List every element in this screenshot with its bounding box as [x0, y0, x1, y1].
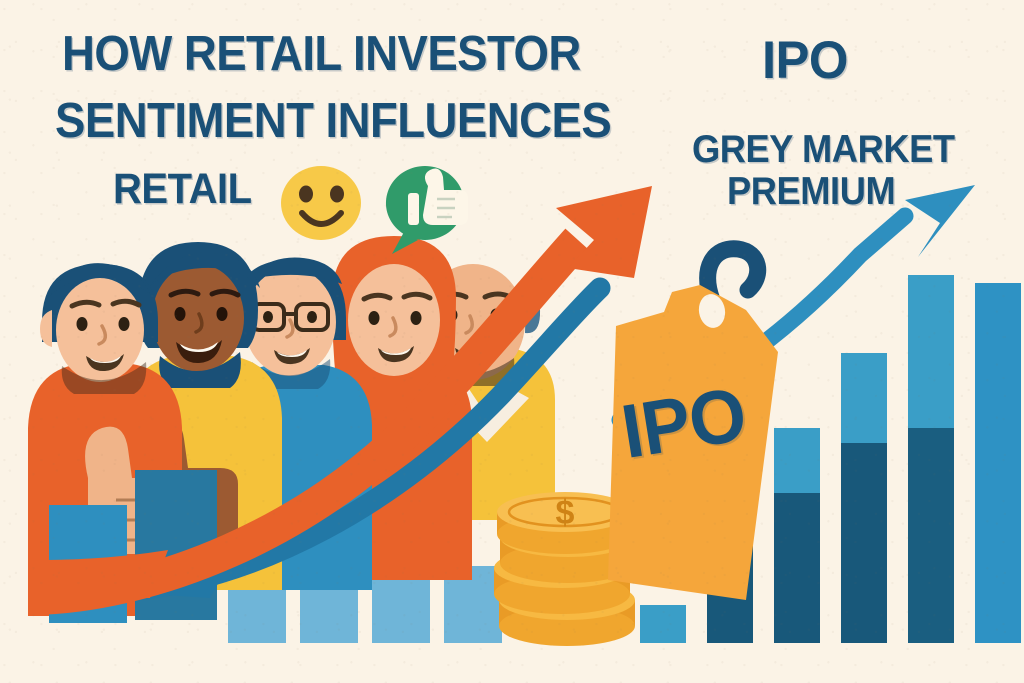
sentiment-emoji-row [0, 0, 1024, 683]
thumbs-up-bubble-icon [386, 166, 468, 254]
smiley-face-icon [281, 166, 361, 240]
poster-canvas: $ IPO HOW RETAIL INVESTOR [0, 0, 1024, 683]
